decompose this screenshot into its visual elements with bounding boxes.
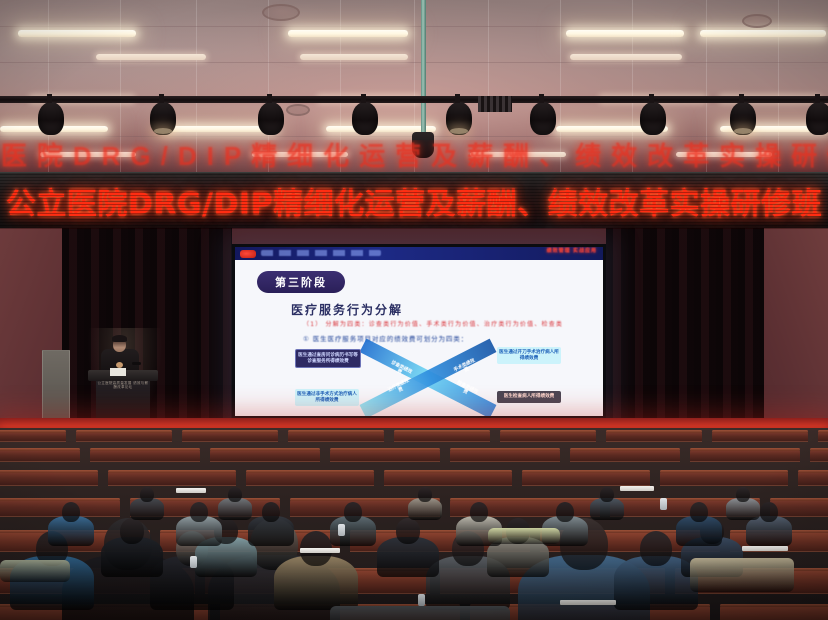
water-cup [190, 556, 197, 568]
ceiling-tile-line [0, 26, 828, 27]
fresnel-light [478, 96, 512, 112]
audience-desk [0, 450, 80, 462]
audience-desk [770, 500, 828, 517]
par-stage-light [730, 102, 756, 135]
audience-desk [690, 450, 800, 462]
desk-rail [0, 470, 98, 473]
slide-stage-badge: 第三阶段 [257, 271, 345, 293]
desk-rail [570, 448, 680, 451]
desk-rail [288, 430, 384, 433]
audience-desk [246, 472, 374, 486]
desk-rail [606, 430, 702, 433]
desk-rail [0, 430, 66, 433]
person-head [262, 502, 280, 522]
slide-sub-line: ① 医生医疗服务项目对应的绩效费可划分为四类： [303, 333, 468, 343]
bag-or-cloth [690, 558, 794, 592]
microphone-icon [132, 362, 141, 365]
desk-rail [182, 430, 278, 433]
desk-rail [500, 430, 596, 433]
paper-sheet [176, 488, 206, 493]
upper-led-strip: 公立医院DRG/DIP精细化运营及薪酬、绩效改革实操研修班 [0, 140, 828, 172]
ceiling-tube-light [700, 30, 826, 37]
audience-desk [798, 472, 828, 486]
audience-desk [720, 606, 828, 620]
audience-desk [712, 432, 808, 442]
person-head [140, 487, 154, 502]
par-stage-light [38, 102, 64, 135]
audience-desk [606, 432, 702, 442]
person-head [228, 487, 242, 502]
desk-rail [712, 430, 808, 433]
desk-rail [690, 448, 800, 451]
slide-header-right-text: 绩效管理 实战应用 [547, 249, 597, 254]
stage-curtain-right [606, 228, 764, 428]
desk-rail [818, 430, 828, 433]
audience-desk [450, 450, 560, 462]
water-cup [660, 498, 667, 510]
bag-or-cloth [488, 528, 560, 544]
desk-rail [660, 470, 788, 473]
person-head [760, 502, 778, 522]
podium-nameplate [110, 368, 126, 376]
person-head [600, 487, 614, 502]
ceiling-tube-light [288, 30, 408, 37]
ceiling-tube-light [300, 54, 408, 60]
audience-desk [0, 472, 98, 486]
person-head [470, 502, 488, 522]
person-head [62, 502, 80, 522]
desk-rail [720, 604, 828, 607]
slide-box-top-left: 医生通过查房问诊病历书写等诊查服务所得绩效费 [295, 349, 361, 368]
water-cup [418, 594, 425, 606]
person-head [556, 502, 574, 522]
desk-rail [330, 448, 440, 451]
audience-desk [570, 450, 680, 462]
led-banner-board: 公立医院DRG/DIP精细化运营及薪酬、绩效改革实操研修班 [0, 172, 828, 230]
ceiling-hanging-pole [421, 0, 426, 140]
par-stage-light [530, 102, 556, 135]
side-door [42, 350, 70, 426]
desk-rail [108, 470, 236, 473]
person-head [418, 487, 432, 502]
slide-logo-icon [240, 250, 256, 258]
par-stage-light [150, 102, 176, 135]
led-banner-text: 公立医院DRG/DIP精细化运营及薪酬、绩效改革实操研修班 [6, 179, 822, 223]
audience-desk [0, 432, 66, 442]
audience-desk [394, 432, 490, 442]
ceiling-tile-line [0, 62, 828, 63]
desk-rail [0, 498, 120, 501]
audience-hall [0, 428, 828, 620]
par-stage-light [640, 102, 666, 135]
person-head [736, 487, 750, 502]
desk-rail [770, 498, 828, 501]
audience-desk [108, 472, 236, 486]
audience-desk [76, 432, 172, 442]
par-stage-light [806, 102, 828, 135]
desk-rail [450, 498, 600, 501]
audience-desk [500, 432, 596, 442]
ceiling-tube-light [18, 30, 136, 37]
bag-or-cloth [0, 560, 70, 582]
desk-rail [90, 448, 200, 451]
audience-desk [288, 432, 384, 442]
desk-rail [246, 470, 374, 473]
paper-sheet [560, 600, 616, 605]
ceiling-vent-icon [742, 14, 772, 28]
desk-rail [798, 470, 828, 473]
person-head [344, 502, 362, 522]
speaker-hair [112, 335, 127, 342]
paper-sheet [300, 548, 340, 553]
lighting-truss [0, 96, 828, 103]
presentation-slide: 绩效管理 实战应用 第三阶段 医疗服务行为分解 （1） 分解为四类：诊查类行为价… [235, 247, 603, 416]
ceiling-tube-light [566, 30, 684, 37]
ceiling-vent-icon [286, 104, 310, 116]
desk-rail [0, 448, 80, 451]
audience-desk [384, 472, 512, 486]
person-head [640, 531, 672, 566]
audience-desk [660, 472, 788, 486]
desk-rail [810, 448, 828, 451]
projection-screen: 绩效管理 实战应用 第三阶段 医疗服务行为分解 （1） 分解为四类：诊查类行为价… [232, 244, 606, 427]
slide-header-decoration [261, 250, 381, 256]
paper-sheet [620, 486, 654, 491]
par-stage-light [446, 102, 472, 135]
person-head [120, 518, 144, 544]
desk-rail [210, 448, 320, 451]
bag-or-cloth [330, 606, 510, 620]
desk-rail [394, 430, 490, 433]
paper-sheet [742, 546, 788, 551]
person-head [190, 502, 208, 522]
desk-rail [522, 470, 650, 473]
audience-desk [210, 450, 320, 462]
water-cup [338, 524, 345, 536]
slide-heading: 医疗服务行为分解 [291, 301, 403, 318]
audience-desk [182, 432, 278, 442]
ceiling-tube-light [96, 54, 206, 60]
podium-front-text: 公立医院高质量发展 绩效与薪酬改革论坛 [96, 381, 150, 390]
par-stage-light [258, 102, 284, 135]
audience-desk [818, 432, 828, 442]
slide-box-bottom-right: 医生检查病人所得绩效费 [497, 391, 561, 403]
audience-desk [810, 450, 828, 462]
slide-header-bar: 绩效管理 实战应用 [235, 247, 603, 260]
desk-rail [76, 430, 172, 433]
audience-desk [522, 472, 650, 486]
slide-stage-badge-label: 第三阶段 [275, 274, 327, 290]
person-head [690, 502, 708, 522]
audience-desk [90, 450, 200, 462]
ceiling-tube-light [570, 54, 682, 60]
audience-desk [330, 450, 440, 462]
slide-box-bottom-left: 医生通过非手术方式治疗病人所得绩效费 [295, 389, 359, 406]
par-stage-light [352, 102, 378, 135]
audience-desk [0, 500, 120, 517]
person-head [396, 518, 420, 544]
ceiling-vent-icon [262, 4, 300, 21]
slide-box-top-right: 医生通过开刀手术治疗病人所得绩效费 [497, 347, 561, 364]
desk-rail [450, 448, 560, 451]
upper-led-text: 公立医院DRG/DIP精细化运营及薪酬、绩效改革实操研修班 [0, 140, 828, 172]
conference-hall-photo: 公立医院DRG/DIP精细化运营及薪酬、绩效改革实操研修班 公立医院DRG/DI… [0, 0, 828, 620]
slide-x-diagram: 诊查类绩效费 治疗类绩效费 手术类绩效费 检查类绩效费 医生通过查房问诊病历书写… [301, 347, 551, 409]
desk-rail [384, 470, 512, 473]
slide-red-line: （1） 分解为四类：诊查类行为价值、手术类行为价值、治疗类行为价值、检查类 [303, 319, 563, 328]
